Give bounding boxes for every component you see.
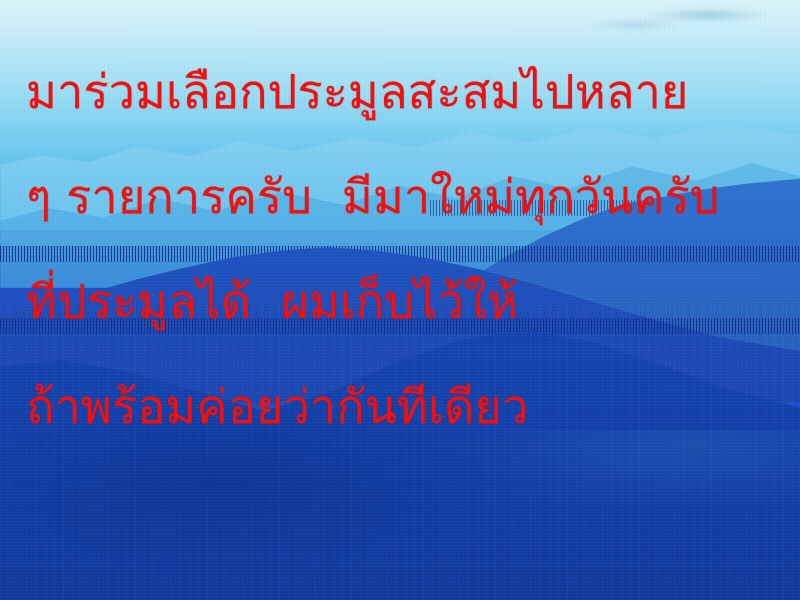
caption-line-4: ถ้าพร้อมค่อยว่ากันทีเดียว xyxy=(26,355,800,460)
caption-line-1: มาร่วมเลือกประมูลสะสมไปหลาย xyxy=(26,40,800,145)
caption-overlay: มาร่วมเลือกประมูลสะสมไปหลาย ๆ รายการครับ… xyxy=(0,0,800,600)
caption-line-3: ที่ประมูลได้ ผมเก็บไว้ให้ xyxy=(26,250,800,355)
caption-line-2: ๆ รายการครับ มีมาใหม่ทุกวันครับ xyxy=(26,145,800,250)
banner-image: มาร่วมเลือกประมูลสะสมไปหลาย ๆ รายการครับ… xyxy=(0,0,800,600)
